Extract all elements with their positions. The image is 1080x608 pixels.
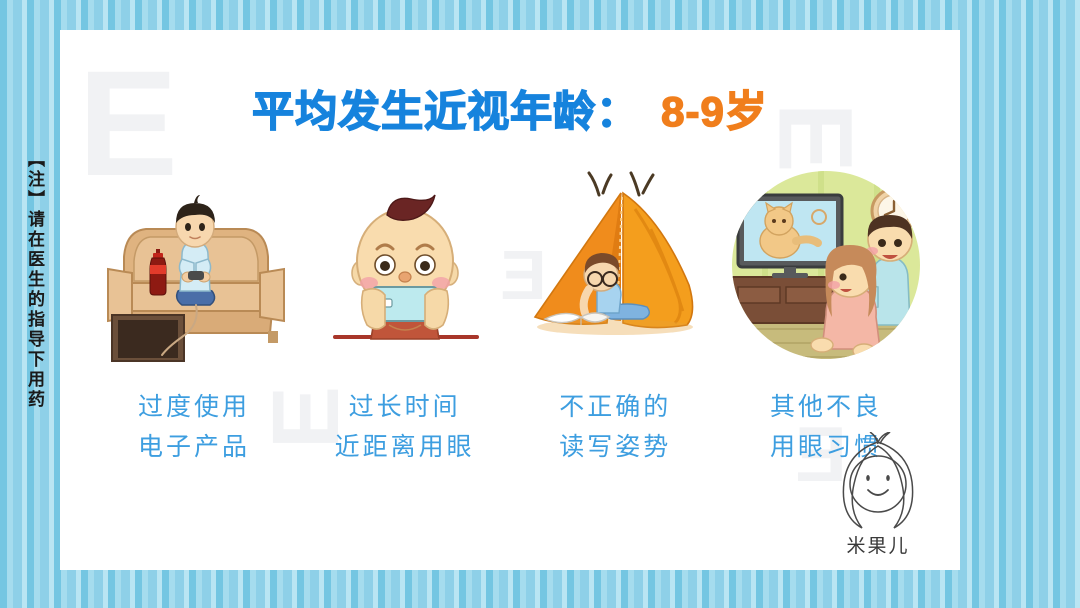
boy-on-sofa-svg (90, 165, 298, 365)
caption-line-1: 不正确的 (559, 387, 671, 427)
brand-logo[interactable]: 米果儿 (818, 432, 938, 562)
tent-reading-svg (511, 165, 719, 365)
caption-line-1: 过度使用 (138, 387, 250, 427)
cause-item-prolonged-close-work[interactable]: 过长时间 近距离用眼 (301, 165, 509, 467)
caption-line-1: 过长时间 (335, 387, 475, 427)
cause-item-bad-posture[interactable]: 不正确的 读写姿势 (511, 165, 719, 467)
caption-line-2: 近距离用眼 (335, 427, 475, 467)
cause-item-overuse-electronics[interactable]: 过度使用 电子产品 (90, 165, 298, 467)
caption-line-2: 读写姿势 (559, 427, 671, 467)
cause-item-other-bad-habits[interactable]: 其他不良 用眼习惯 (722, 165, 930, 467)
title-highlight-age: 8-9岁 (661, 88, 768, 135)
poster-canvas: 【注】请在医生的指导下用药 E E E E E 平均发生近视年龄：8-9岁 (0, 0, 1080, 608)
caption-line-1: 其他不良 (770, 387, 882, 427)
illustration-tent-reading (511, 165, 719, 365)
brand-logo-label: 米果儿 (818, 531, 938, 558)
illustration-kids-watching-tv (722, 165, 930, 365)
title-main-text: 平均发生近视年龄： (252, 88, 639, 135)
side-note-vertical: 【注】请在医生的指导下用药 (16, 150, 52, 480)
caption-overuse-electronics: 过度使用 电子产品 (138, 387, 250, 467)
kids-watching-tv-svg (722, 165, 930, 365)
sprout-face-icon (832, 432, 924, 536)
illustration-boy-on-sofa (90, 165, 298, 365)
child-with-phone-svg (301, 165, 509, 365)
cause-items-row: 过度使用 电子产品 (90, 165, 930, 495)
page-title: 平均发生近视年龄：8-9岁 (60, 78, 960, 139)
caption-bad-posture: 不正确的 读写姿势 (559, 387, 671, 467)
caption-line-2: 电子产品 (138, 427, 250, 467)
illustration-child-with-phone (301, 165, 509, 365)
caption-prolonged-close-work: 过长时间 近距离用眼 (335, 387, 475, 467)
white-content-card: E E E E E 平均发生近视年龄：8-9岁 (60, 30, 960, 570)
